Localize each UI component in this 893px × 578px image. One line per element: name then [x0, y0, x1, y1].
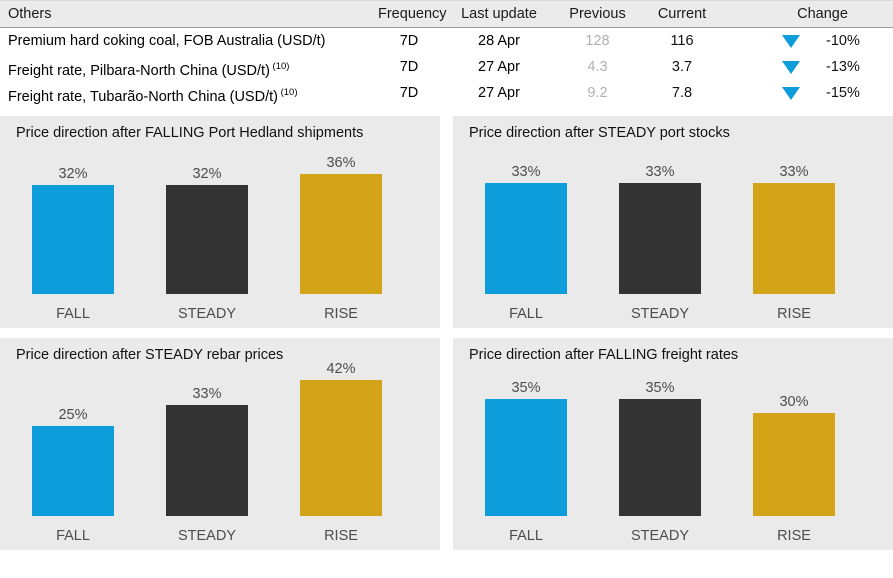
bar-value-label: 33% — [601, 164, 719, 180]
bar-category-label: RISE — [282, 528, 400, 544]
row-footnote-marker: (10) — [270, 61, 290, 72]
bar-category-label: RISE — [735, 306, 853, 322]
bar-group: 30%RISE — [735, 372, 853, 550]
bar-group: 35%STEADY — [601, 372, 719, 550]
cell-current: 116 — [645, 28, 719, 54]
bar-steady — [166, 405, 248, 516]
bar-category-label: STEADY — [601, 528, 719, 544]
bar-column: 33% — [148, 372, 266, 516]
cell-previous: 9.2 — [560, 80, 635, 106]
row-footnote-marker: (10) — [278, 87, 298, 98]
bar-category-label: STEADY — [601, 306, 719, 322]
chart-plot-area: 25%FALL33%STEADY42%RISE — [0, 372, 440, 550]
bar-value-label: 33% — [467, 164, 585, 180]
bar-column: 33% — [601, 150, 719, 294]
bar-steady — [619, 399, 701, 516]
bar-value-label: 42% — [282, 361, 400, 377]
table-body: Premium hard coking coal, FOB Australia … — [0, 28, 893, 106]
bar-value-label: 25% — [14, 407, 132, 423]
bar-group: 42%RISE — [282, 372, 400, 550]
bar-rise — [300, 380, 382, 516]
bar-steady — [166, 185, 248, 294]
bar-column: 25% — [14, 372, 132, 516]
cell-current: 3.7 — [645, 54, 719, 80]
column-header-name: Others — [8, 1, 52, 27]
chart-plot-area: 32%FALL32%STEADY36%RISE — [0, 150, 440, 328]
cell-frequency: 7D — [378, 54, 440, 80]
chart-title: Price direction after STEADY port stocks — [469, 125, 730, 141]
bar-group: 33%FALL — [467, 150, 585, 328]
bar-column: 35% — [467, 372, 585, 516]
bar-rise — [753, 413, 835, 516]
bar-column: 33% — [735, 150, 853, 294]
bar-group: 32%FALL — [14, 150, 132, 328]
cell-previous: 128 — [560, 28, 635, 54]
bar-group: 33%STEADY — [601, 150, 719, 328]
bar-column: 42% — [282, 372, 400, 516]
arrow-down-icon — [782, 61, 800, 74]
cell-change: -13% — [760, 54, 885, 80]
cell-change: -15% — [760, 80, 885, 106]
cell-last-update: 27 Apr — [455, 80, 543, 106]
change-value: -10% — [826, 33, 860, 49]
row-label: Freight rate, Tubarão-North China (USD/t… — [8, 80, 298, 110]
cell-frequency: 7D — [378, 28, 440, 54]
column-header-previous: Previous — [560, 1, 635, 27]
bar-category-label: RISE — [735, 528, 853, 544]
row-label: Premium hard coking coal, FOB Australia … — [8, 28, 326, 54]
bar-category-label: STEADY — [148, 528, 266, 544]
bar-value-label: 35% — [601, 380, 719, 396]
bar-fall — [485, 183, 567, 294]
bar-category-label: RISE — [282, 306, 400, 322]
cell-frequency: 7D — [378, 80, 440, 106]
table-header-row: Others Frequency Last update Previous Cu… — [0, 0, 893, 28]
change-value: -15% — [826, 85, 860, 101]
cell-last-update: 28 Apr — [455, 28, 543, 54]
column-header-current: Current — [645, 1, 719, 27]
chart-panel: Price direction after FALLING freight ra… — [453, 338, 893, 550]
arrow-down-icon — [782, 35, 800, 48]
bar-value-label: 33% — [735, 164, 853, 180]
commodity-table: Others Frequency Last update Previous Cu… — [0, 0, 893, 106]
bar-column: 30% — [735, 372, 853, 516]
cell-change: -10% — [760, 28, 885, 54]
chart-title: Price direction after FALLING freight ra… — [469, 347, 738, 363]
column-header-frequency: Frequency — [378, 1, 440, 27]
bar-column: 32% — [14, 150, 132, 294]
bar-value-label: 32% — [14, 166, 132, 182]
bar-value-label: 30% — [735, 394, 853, 410]
bar-value-label: 35% — [467, 380, 585, 396]
bar-value-label: 36% — [282, 155, 400, 171]
chart-panel: Price direction after FALLING Port Hedla… — [0, 116, 440, 328]
table-row: Freight rate, Tubarão-North China (USD/t… — [0, 80, 893, 106]
chart-panel: Price direction after STEADY port stocks… — [453, 116, 893, 328]
bar-rise — [300, 174, 382, 294]
bar-category-label: STEADY — [148, 306, 266, 322]
bar-column: 33% — [467, 150, 585, 294]
bar-category-label: FALL — [467, 528, 585, 544]
bar-fall — [32, 185, 114, 294]
table-row: Freight rate, Pilbara-North China (USD/t… — [0, 54, 893, 80]
bar-column: 36% — [282, 150, 400, 294]
bar-column: 35% — [601, 372, 719, 516]
cell-last-update: 27 Apr — [455, 54, 543, 80]
chart-plot-area: 33%FALL33%STEADY33%RISE — [453, 150, 893, 328]
bar-category-label: FALL — [467, 306, 585, 322]
chart-panel: Price direction after STEADY rebar price… — [0, 338, 440, 550]
bar-fall — [32, 426, 114, 516]
cell-current: 7.8 — [645, 80, 719, 106]
bar-steady — [619, 183, 701, 294]
charts-grid: Price direction after FALLING Port Hedla… — [0, 116, 893, 550]
arrow-down-icon — [782, 87, 800, 100]
column-header-last-update: Last update — [455, 1, 543, 27]
bar-value-label: 33% — [148, 386, 266, 402]
cell-previous: 4.3 — [560, 54, 635, 80]
bar-category-label: FALL — [14, 528, 132, 544]
bar-group: 35%FALL — [467, 372, 585, 550]
bar-group: 25%FALL — [14, 372, 132, 550]
chart-plot-area: 35%FALL35%STEADY30%RISE — [453, 372, 893, 550]
bar-category-label: FALL — [14, 306, 132, 322]
bar-fall — [485, 399, 567, 516]
table-row: Premium hard coking coal, FOB Australia … — [0, 28, 893, 54]
bar-group: 36%RISE — [282, 150, 400, 328]
change-value: -13% — [826, 59, 860, 75]
bar-group: 33%STEADY — [148, 372, 266, 550]
chart-title: Price direction after FALLING Port Hedla… — [16, 125, 363, 141]
bar-group: 32%STEADY — [148, 150, 266, 328]
bar-value-label: 32% — [148, 166, 266, 182]
column-header-change: Change — [760, 1, 885, 27]
bar-group: 33%RISE — [735, 150, 853, 328]
bar-rise — [753, 183, 835, 294]
chart-title: Price direction after STEADY rebar price… — [16, 347, 283, 363]
bar-column: 32% — [148, 150, 266, 294]
